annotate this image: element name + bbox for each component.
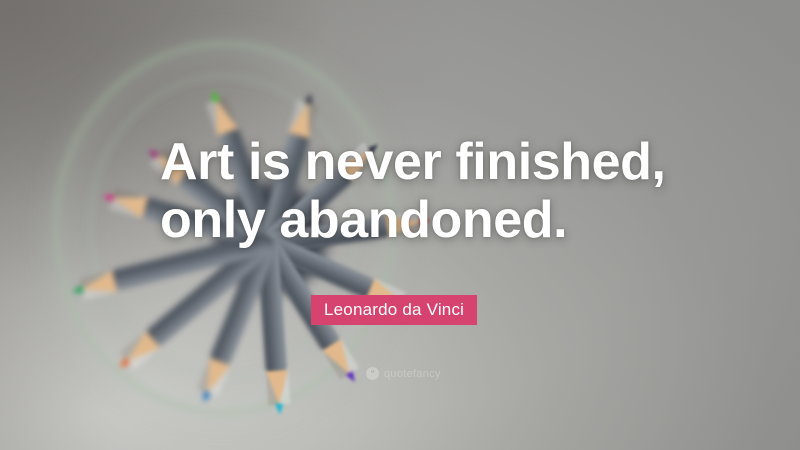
quote-mark-icon: “ (366, 367, 379, 380)
author-badge: Leonardo da Vinci (311, 295, 477, 325)
quote-text: Art is never finished, only abandoned. (160, 133, 780, 249)
author-name: Leonardo da Vinci (324, 300, 464, 320)
watermark: “ quotefancy (366, 367, 441, 380)
watermark-label: quotefancy (384, 368, 441, 380)
quote-poster: Art is never finished, only abandoned. L… (0, 0, 800, 450)
